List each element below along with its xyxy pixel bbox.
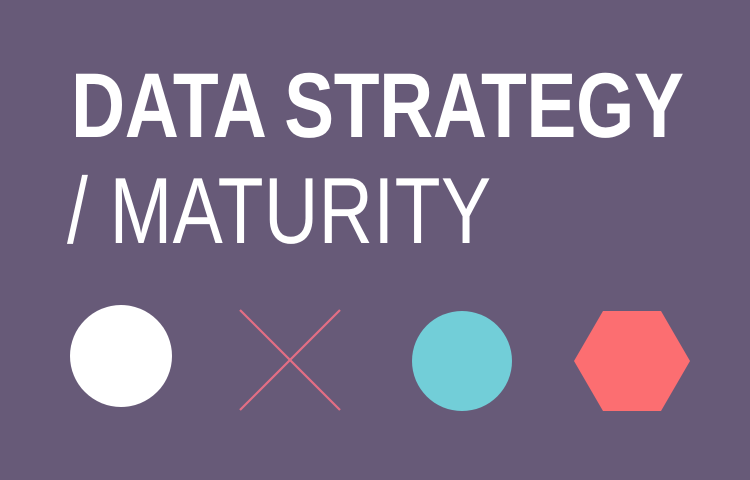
decorative-shape-row (0, 0, 750, 480)
circle-icon (412, 311, 512, 411)
cross-icon (238, 308, 342, 412)
circle-icon (70, 305, 172, 407)
banner-graphic: DATA STRATEGY / MATURITY (0, 0, 750, 480)
hexagon-icon (574, 311, 690, 411)
